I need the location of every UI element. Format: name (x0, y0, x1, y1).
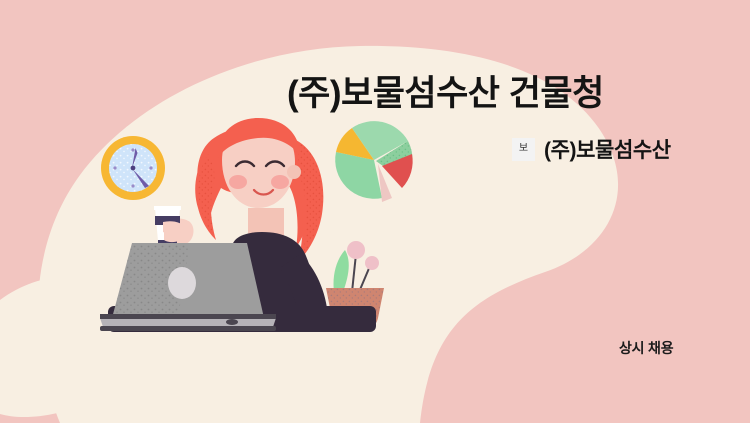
page-title: (주)보물섬수산 건물청 (287, 74, 604, 114)
job-posting-poster: (주)보물섬수산 건물청 보 (주)보물섬수산 상시 채용 (0, 0, 750, 423)
illustration (0, 0, 750, 423)
hiring-status-label: 상시 채용 (619, 338, 673, 358)
wall-clock (101, 136, 165, 200)
company-logo-badge: 보 (512, 138, 535, 161)
company-row: 보 (주)보물섬수산 (512, 134, 671, 164)
company-name: (주)보물섬수산 (544, 134, 671, 164)
